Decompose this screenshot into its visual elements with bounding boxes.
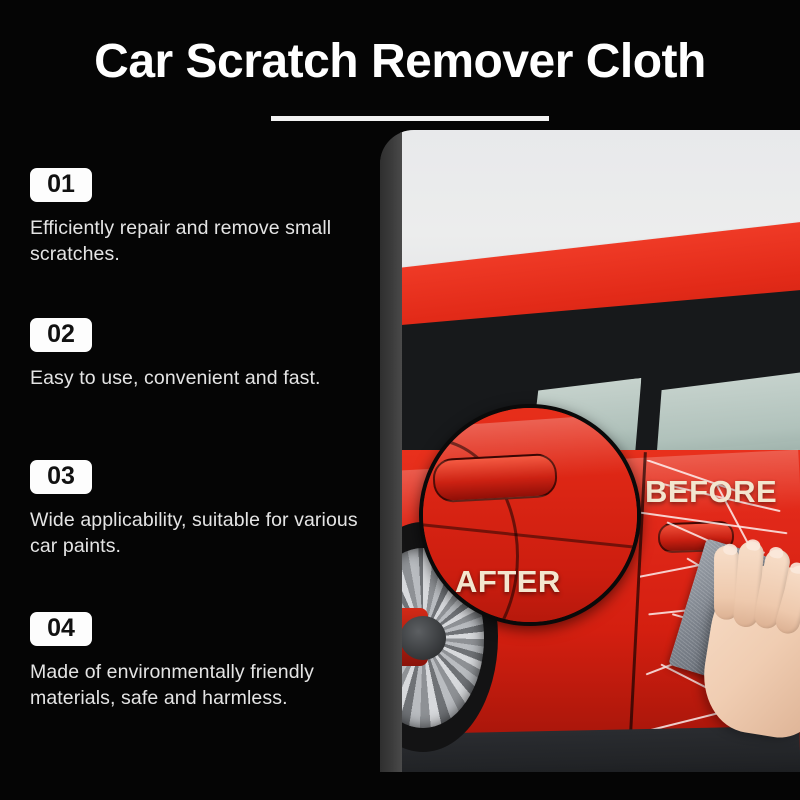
- feature-text-03: Wide applicability, suitable for various…: [30, 507, 360, 559]
- wheel-hub: [400, 616, 446, 660]
- title-divider: [271, 116, 549, 121]
- header: Car Scratch Remover Cloth: [0, 0, 800, 130]
- feature-text-01: Efficiently repair and remove small scra…: [30, 215, 360, 267]
- feature-item-04: 04 Made of environmentally friendly mate…: [30, 612, 370, 711]
- before-label: BEFORE: [645, 474, 777, 510]
- page-title: Car Scratch Remover Cloth: [0, 33, 800, 91]
- feature-item-03: 03 Wide applicability, suitable for vari…: [30, 460, 370, 559]
- feature-number-badge-03: 03: [30, 460, 92, 494]
- feature-number-badge-02: 02: [30, 318, 92, 352]
- panel-left-edge: [380, 130, 402, 772]
- feature-text-02: Easy to use, convenient and fast.: [30, 365, 360, 391]
- after-magnifier-circle: AFTER: [419, 404, 641, 626]
- feature-text-04: Made of environmentally friendly materia…: [30, 659, 360, 711]
- product-infographic: Car Scratch Remover Cloth 01 Efficiently…: [0, 0, 800, 800]
- feature-item-01: 01 Efficiently repair and remove small s…: [30, 168, 370, 267]
- feature-list: 01 Efficiently repair and remove small s…: [0, 160, 382, 780]
- feature-item-02: 02 Easy to use, convenient and fast.: [30, 318, 370, 391]
- repaired-door-handle: [432, 453, 558, 503]
- feature-number-badge-04: 04: [30, 612, 92, 646]
- feature-number-badge-01: 01: [30, 168, 92, 202]
- after-label: AFTER: [455, 564, 561, 600]
